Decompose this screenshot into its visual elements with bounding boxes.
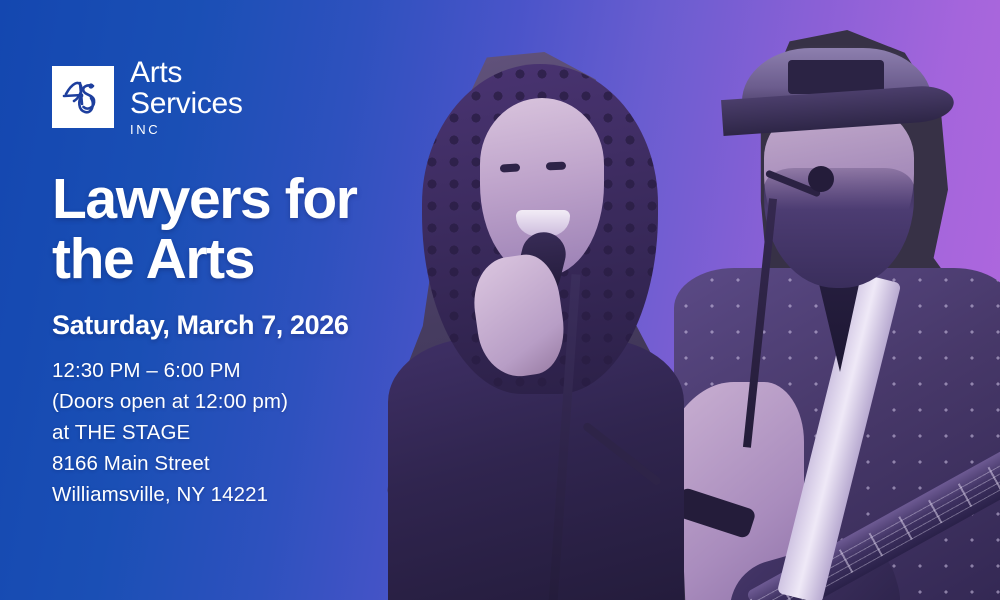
event-details: 12:30 PM – 6:00 PM (Doors open at 12:00 … <box>52 355 440 511</box>
event-banner: Arts Services INC Lawyers for the Arts S… <box>0 0 1000 600</box>
bassist-mic-stand <box>743 198 777 447</box>
bassist-cap <box>742 48 932 120</box>
singer-left-eye <box>500 163 521 172</box>
event-doors: (Doors open at 12:00 pm) <box>52 386 440 417</box>
bassist-guitar-strap <box>777 272 901 600</box>
bass-guitar-neck <box>746 384 1000 600</box>
singer-smile <box>516 210 570 236</box>
bassist-mic-boom <box>765 169 821 197</box>
singer-microphone <box>514 228 571 295</box>
headline-line-2: the Arts <box>52 230 440 290</box>
bassist-arm <box>660 382 804 600</box>
brand-line-2: Services <box>130 89 243 119</box>
bass-guitarist-photo <box>660 30 1000 600</box>
brand-logo: Arts Services INC <box>52 58 440 136</box>
bassist-collar <box>788 262 888 372</box>
headline-line-1: Lawyers for <box>52 170 440 230</box>
bassist-shirt <box>674 268 1000 600</box>
singer-hand <box>468 251 570 382</box>
singer-neck <box>508 266 572 352</box>
bass-guitar-body <box>718 529 912 600</box>
cap-logo-patch <box>788 60 884 94</box>
banner-content: Arts Services INC Lawyers for the Arts S… <box>0 0 440 600</box>
singer-right-eye <box>546 162 566 171</box>
singer-mic-boom <box>582 421 663 486</box>
event-date: Saturday, March 7, 2026 <box>52 310 440 341</box>
brand-line-1: Arts <box>130 56 182 89</box>
singer-face <box>480 98 604 276</box>
bassist-beard <box>764 168 914 288</box>
event-city-state-zip: Williamsville, NY 14221 <box>52 479 440 510</box>
bassist-face <box>764 100 914 270</box>
page-title: Lawyers for the Arts <box>52 170 440 290</box>
event-street: 8166 Main Street <box>52 448 440 479</box>
singer-hair <box>422 64 658 394</box>
bassist-cap-brim <box>721 84 955 136</box>
event-time: 12:30 PM – 6:00 PM <box>52 355 440 386</box>
brand-line-3: INC <box>130 123 243 136</box>
singer-mic-stand <box>549 274 581 600</box>
event-venue: at THE STAGE <box>52 417 440 448</box>
brand-wordmark: Arts Services INC <box>130 58 243 136</box>
bassist-watch <box>673 487 756 540</box>
bassist-microphone <box>808 166 834 192</box>
bassist-cutout-shape <box>660 30 1000 600</box>
arts-services-monogram-icon <box>52 66 114 128</box>
